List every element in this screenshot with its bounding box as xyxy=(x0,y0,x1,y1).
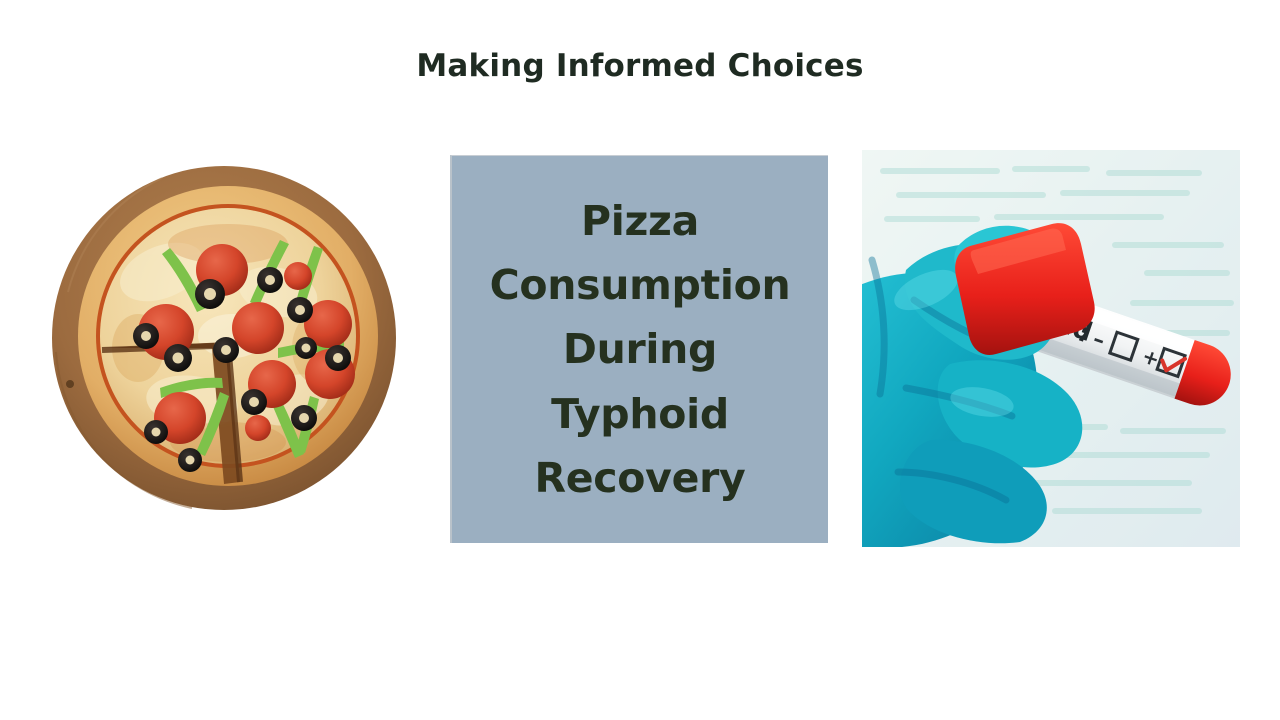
slide-canvas: Making Informed Choices xyxy=(0,0,1280,720)
typhoid-test-illustration: Typhoid : – + xyxy=(862,150,1240,547)
page-title: Making Informed Choices xyxy=(0,48,1280,84)
pizza-pie xyxy=(78,186,378,486)
pizza-photo xyxy=(42,152,414,524)
typhoid-test-photo: Typhoid : – + xyxy=(862,150,1240,547)
topic-title-text: Pizza Consumption During Typhoid Recover… xyxy=(482,189,799,511)
topic-title-card: Pizza Consumption During Typhoid Recover… xyxy=(450,155,828,543)
pizza-illustration xyxy=(42,152,414,524)
